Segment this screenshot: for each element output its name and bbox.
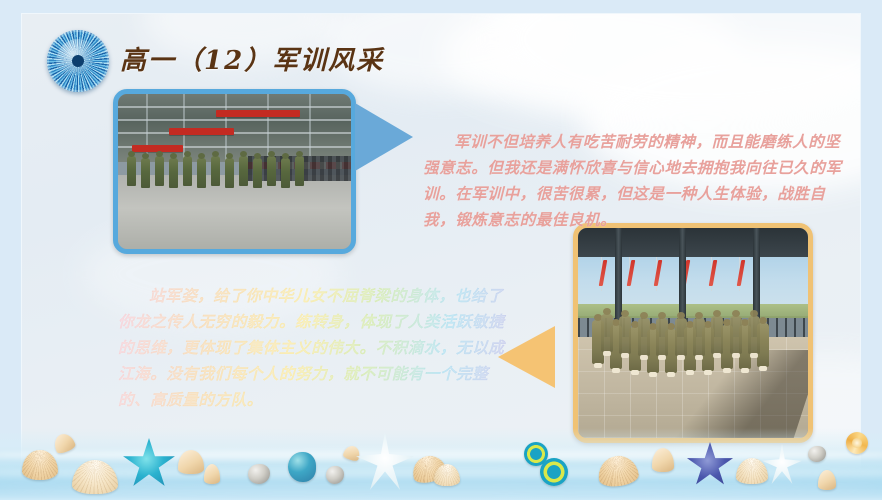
- white-starfish: [762, 444, 802, 484]
- top-paragraph: 军训不但培养人有吃苦耐劳的精神，而且能磨练人的坚强意志。但我还是满怀欣喜与信心地…: [423, 129, 853, 233]
- red-banner: [216, 110, 300, 117]
- photo-content: [118, 94, 351, 249]
- white-starfish: [356, 432, 414, 490]
- blue-starfish: [122, 438, 176, 490]
- scallop-shell: [72, 460, 118, 494]
- pebble-shell: [808, 446, 826, 462]
- pebble-shell: [326, 466, 344, 484]
- photo-ground: [118, 175, 351, 249]
- spiral-shell: [846, 432, 868, 454]
- bottom-paragraph: 站军姿，给了你中华儿女不屈脊梁的身体，也给了你龙之传人无穷的毅力。练转身，体现了…: [118, 283, 518, 413]
- marching-formation-under-tent: [113, 89, 356, 254]
- teal-stone: [288, 452, 316, 482]
- page-title: 高一（12）军训风采: [120, 40, 384, 77]
- pebble-shell: [248, 464, 270, 484]
- red-banner: [169, 128, 234, 135]
- sea-urchin: [540, 458, 568, 486]
- photo-content: [578, 228, 808, 438]
- slide-stage: 高一（12）军训风采: [0, 0, 882, 500]
- seashell-bottom-border: [0, 428, 882, 500]
- cone-shell: [204, 464, 220, 484]
- blue-arrow-right: [355, 103, 413, 171]
- scallop-shell: [736, 458, 768, 484]
- blue-radial-sunburst-icon: [47, 30, 109, 92]
- students-standing-formation-pavilion: [573, 223, 813, 443]
- navy-starfish: [686, 442, 734, 488]
